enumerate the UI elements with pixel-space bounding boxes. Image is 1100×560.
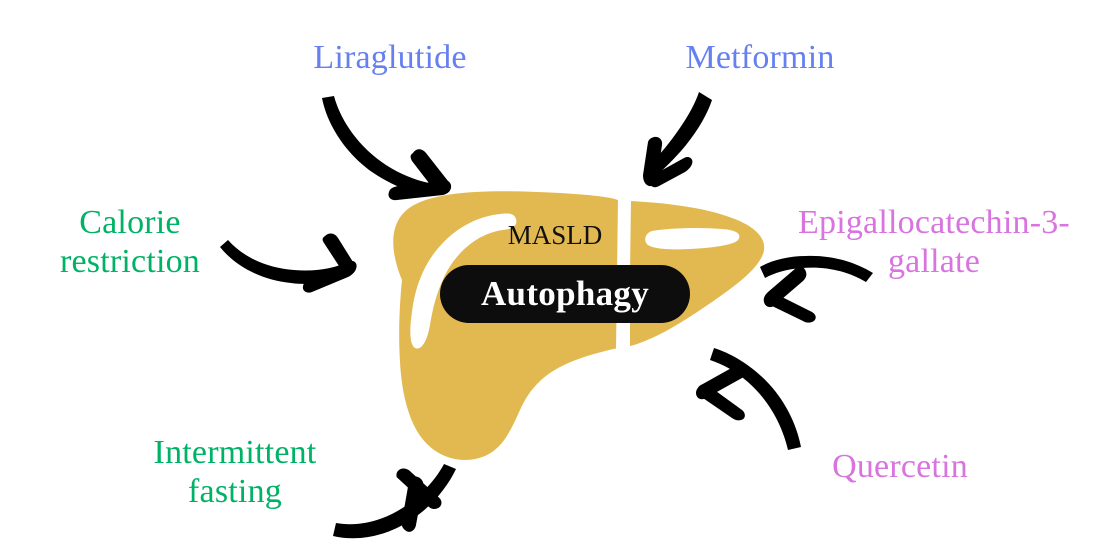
autophagy-badge: Autophagy bbox=[440, 265, 690, 323]
label-quercetin: Quercetin bbox=[760, 447, 1040, 486]
arrow-quercetin bbox=[696, 348, 801, 450]
arrow-liraglutide bbox=[322, 96, 451, 200]
label-calorie-restriction: Calorie restriction bbox=[10, 203, 250, 281]
autophagy-badge-label: Autophagy bbox=[481, 274, 649, 314]
label-liraglutide: Liraglutide bbox=[240, 38, 540, 77]
label-epigallocatechin-3-gallate: Epigallocatechin-3- gallate bbox=[768, 203, 1100, 281]
masld-label: MASLD bbox=[470, 220, 640, 251]
diagram-canvas: Liraglutide Metformin Calorie restrictio… bbox=[0, 0, 1100, 560]
arrow-metformin bbox=[643, 92, 712, 187]
label-intermittent-fasting: Intermittent fasting bbox=[95, 433, 375, 511]
label-metformin: Metformin bbox=[615, 38, 905, 77]
